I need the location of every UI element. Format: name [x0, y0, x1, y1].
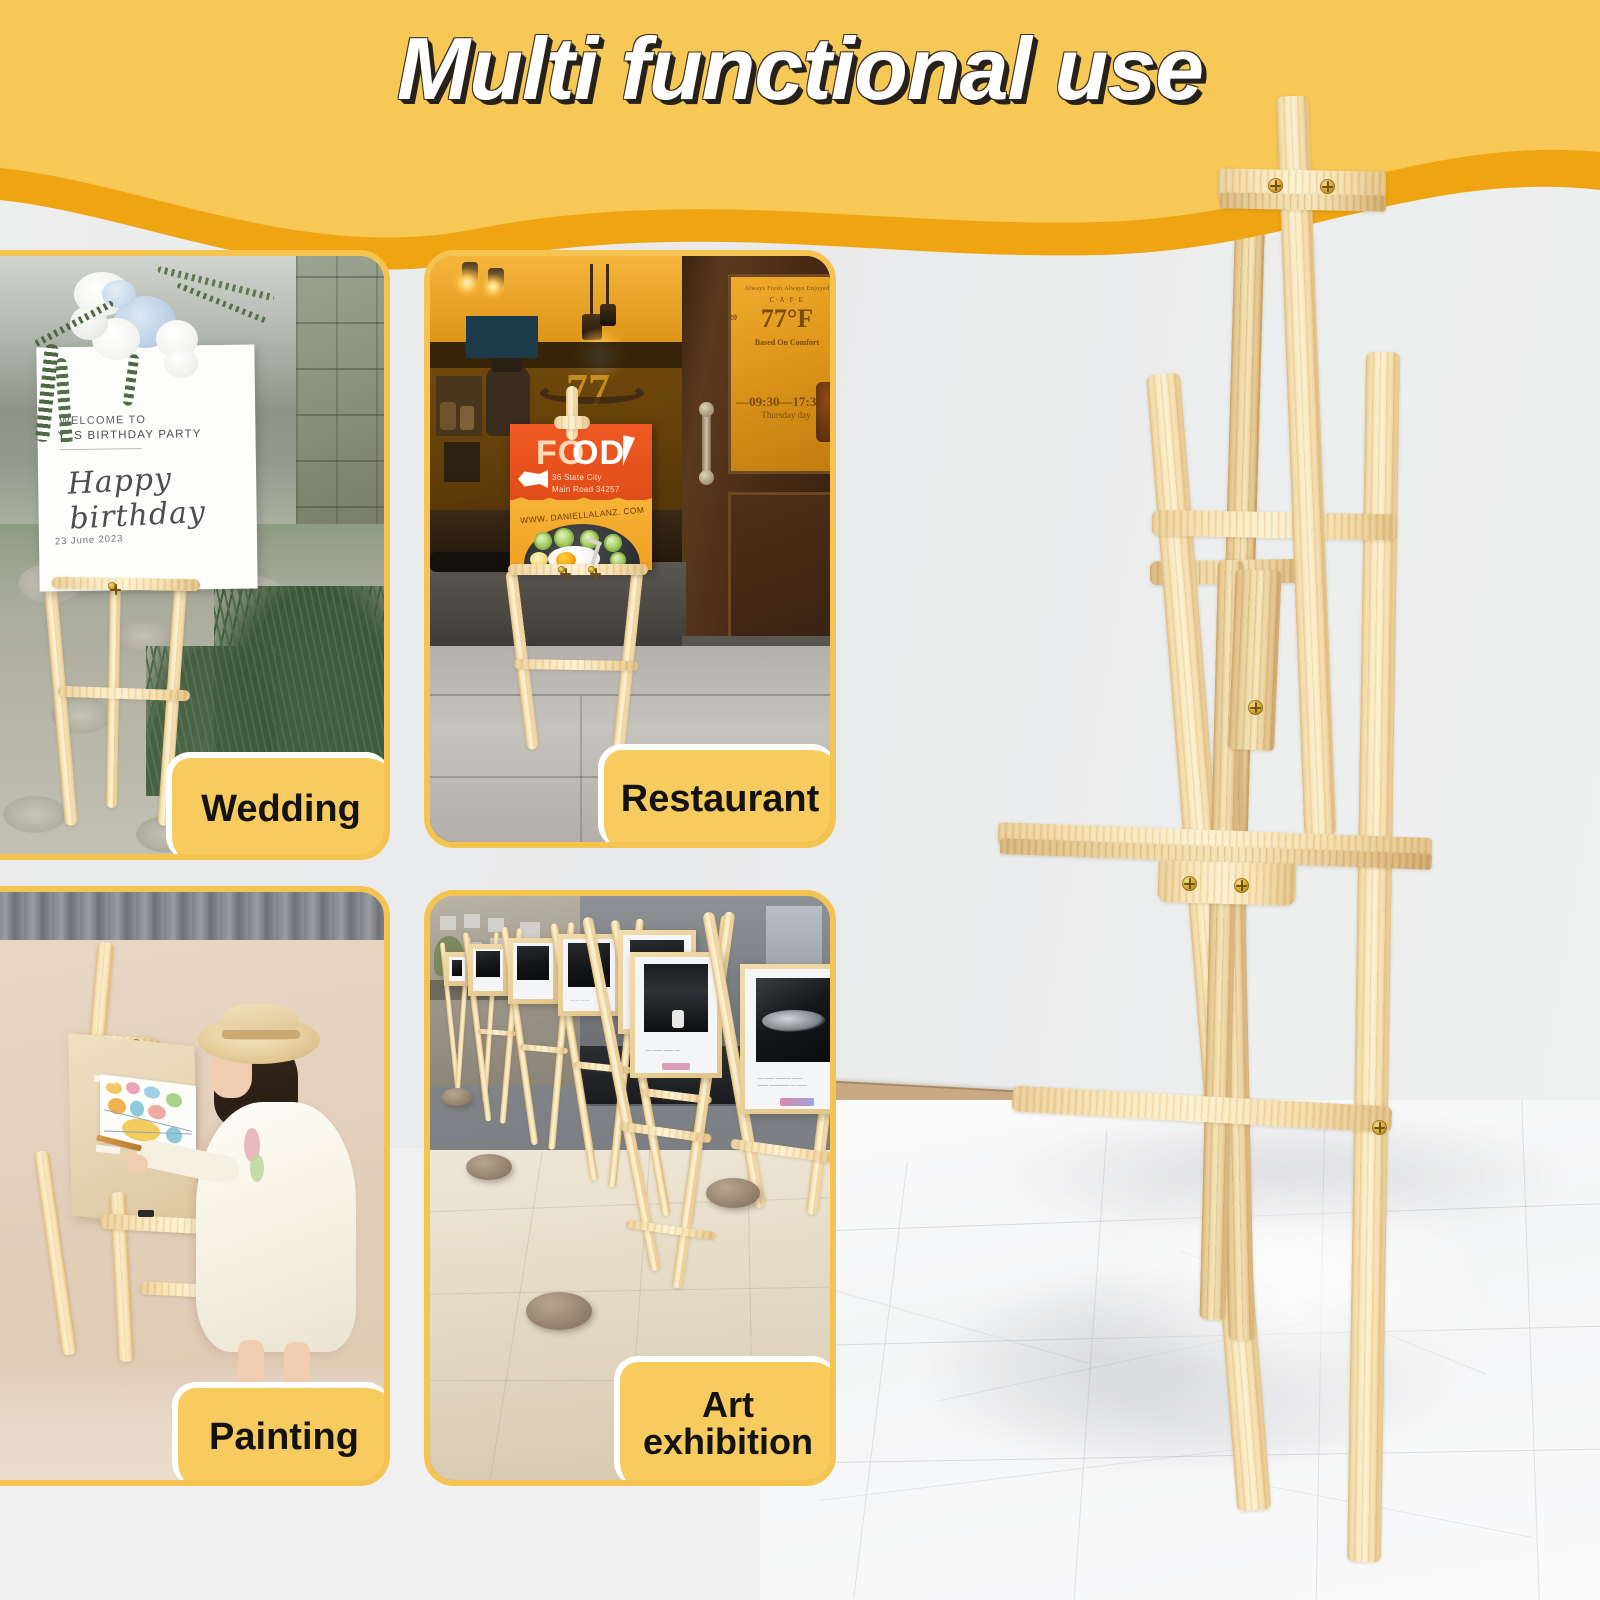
photo-easel-tray: [508, 564, 648, 575]
card-label-painting: Painting: [172, 1382, 390, 1486]
door-etch-day: Thursday day: [730, 410, 830, 420]
straw-hat-band: [222, 1030, 300, 1039]
cucumber-slice-1: [534, 532, 552, 550]
screw-top-left: [1268, 178, 1283, 193]
door-etch-cafe: C·A·F·E: [736, 296, 830, 304]
weight-stone: [706, 1178, 760, 1208]
cucumber-slice-4: [604, 534, 622, 552]
photo-easel-tray: [52, 577, 200, 592]
floral-arrangement: [6, 262, 276, 452]
poster-address-line2: Main Road 34257: [552, 485, 620, 494]
screw-tray-left: [1182, 876, 1197, 891]
photo-easel-rung: [514, 659, 638, 671]
sign-script-text: Happy birthday: [67, 457, 258, 537]
screw-top-right: [1320, 179, 1335, 194]
sun-patch: [1080, 1150, 1500, 1450]
use-case-card-painting[interactable]: Painting: [0, 886, 390, 1486]
child-figure: [192, 1002, 384, 1422]
card-label-wedding: Wedding: [166, 752, 390, 860]
cucumber-slice-2: [554, 528, 574, 548]
photo-easel-screw-l: [558, 566, 565, 573]
easel-tray-bracket: [1157, 860, 1296, 906]
framed-photo: [508, 938, 558, 1004]
weight-stone: [526, 1292, 592, 1330]
label-text: Restaurant: [621, 780, 820, 819]
label-text-line2: exhibition: [643, 1424, 813, 1461]
use-case-grid: WELCOME TO Y' S BIRTHDAY PARTY Happy bir…: [0, 0, 860, 1600]
photo-easel-screw: [108, 582, 116, 590]
shingle-wall: [296, 256, 384, 554]
label-text: Painting: [209, 1418, 359, 1457]
framed-photo: [468, 944, 508, 996]
use-case-card-art-exhibition[interactable]: — — — — — —— — —: [424, 890, 836, 1486]
weight-stone: [466, 1154, 512, 1180]
child-dress: [196, 1102, 356, 1352]
label-text: Wedding: [201, 790, 361, 829]
photo-easel-mast-cap: [554, 416, 590, 429]
sign-date: 23 June 2023: [55, 533, 124, 547]
poster-address-line1: 36 State City: [552, 473, 602, 482]
bulb-glow-2: [480, 274, 506, 300]
screw-tray-right: [1234, 878, 1249, 893]
backdrop-curtain: [0, 892, 384, 940]
card-label-restaurant: Restaurant: [598, 744, 836, 848]
use-case-card-wedding[interactable]: WELCOME TO Y' S BIRTHDAY PARTY Happy bir…: [0, 250, 390, 860]
door-lower-panel: [728, 492, 830, 642]
door-etch-year-left: 20: [724, 313, 742, 322]
door-etch-temp: 77°F: [736, 304, 830, 334]
screw-foot-brace: [1372, 1120, 1387, 1135]
door-etch-hours: —09:30—17:30—: [730, 394, 830, 410]
weight-stone: [442, 1088, 472, 1106]
door-etch-subtitle: Based On Comfort: [736, 338, 830, 347]
food-poster: FO OD 36 State City Main Road 34257 WWW.…: [510, 424, 652, 570]
framed-photo: — —— —— —: [630, 952, 722, 1078]
poster-food-2: OD: [572, 434, 625, 473]
bulb-glow-1: [452, 268, 482, 298]
screw-mid-clamp: [1248, 700, 1263, 715]
poster-address: 36 State City Main Road 34257: [552, 472, 620, 496]
easel-mid-clamp: [1228, 569, 1281, 751]
label-text-line1: Art: [702, 1387, 754, 1424]
framed-photo: — —— ——— —— —— ———— — ——: [740, 964, 830, 1114]
card-label-art-exhibition: Art exhibition: [614, 1356, 836, 1486]
easel-upper-crossbar: [1152, 510, 1396, 541]
product-infographic: Multi functional use WELCOME TO: [0, 0, 1600, 1600]
photo-easel-mast-top: [566, 386, 578, 440]
photo-easel-screw-r: [588, 566, 595, 573]
use-case-card-restaurant[interactable]: 77 Always Fresh Always Enjoyed C·A·F·E 7…: [424, 250, 836, 848]
door-etch-tagline: Always Fresh Always Enjoyed: [736, 286, 830, 292]
